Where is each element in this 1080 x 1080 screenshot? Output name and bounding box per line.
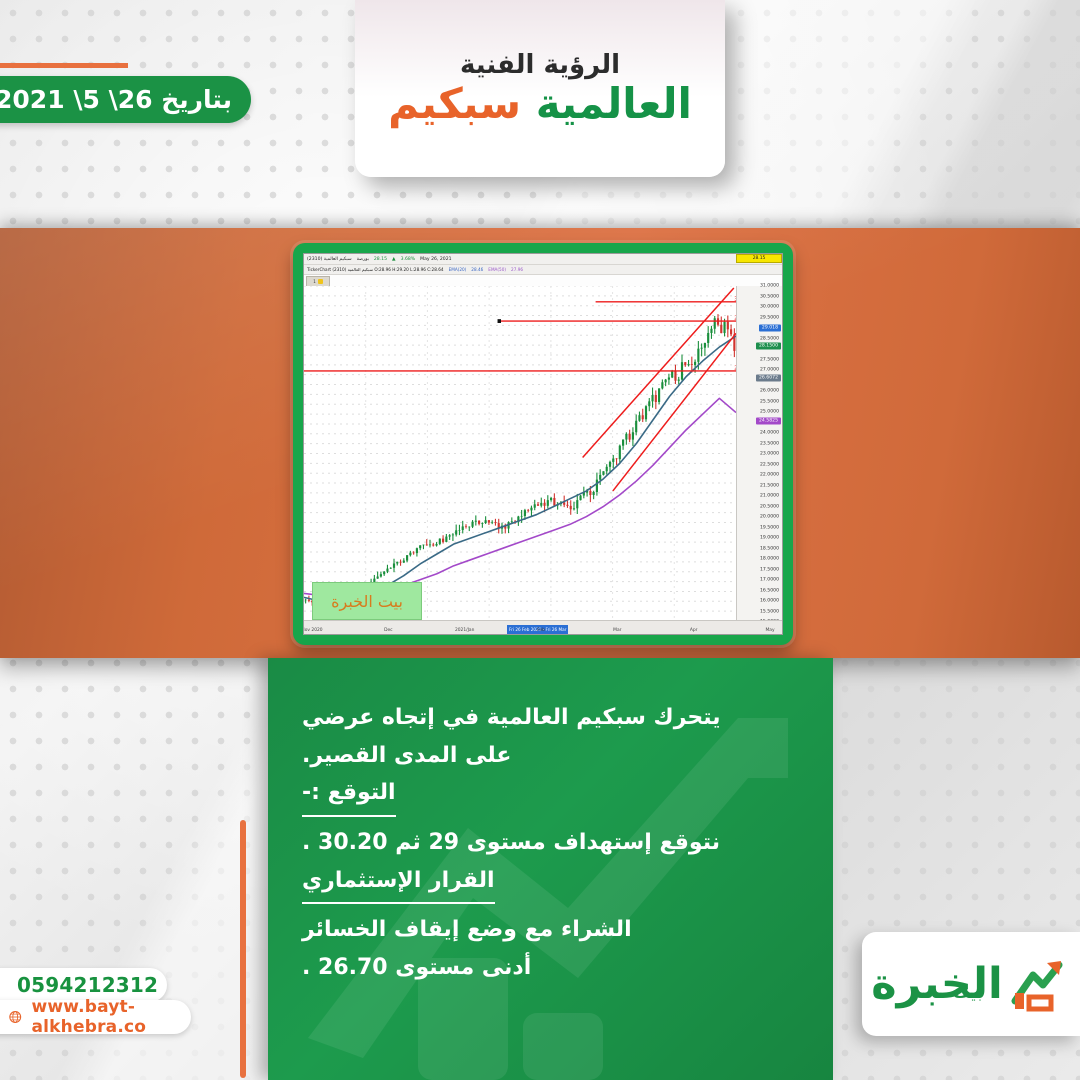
price-tick: 23.0000: [760, 452, 779, 457]
chart-last-price: 28.15: [374, 257, 387, 262]
price-tag-crosshair: 29.018: [759, 324, 781, 331]
chart-change-arrow-icon: ▲: [392, 257, 396, 262]
title-brand-orange: سبكيم: [388, 79, 521, 128]
title-brand-green: العالمية: [536, 79, 692, 128]
price-tick: 15.5000: [760, 609, 779, 614]
time-tick: 2021/Jan: [455, 628, 474, 633]
chart-window: سبكيم العالمية (2310) بورصة 28.15 ▲ 3.68…: [303, 253, 783, 635]
price-tick: 25.5000: [760, 399, 779, 404]
chart-symbol-row: سبكيم العالمية (2310) بورصة 28.15 ▲ 3.68…: [304, 254, 782, 265]
chart-ema20-value: 28.46: [471, 267, 483, 272]
chart-ohlc-row: TickerChart سبكيم العالمية (2310) O:28.9…: [304, 265, 782, 275]
chart-symbol: سبكيم العالمية (2310): [307, 257, 352, 262]
chart-price-axis[interactable]: 31.000030.500030.000029.500029.000028.50…: [736, 286, 782, 621]
chart-watermark-label: بيت الخبرة: [331, 592, 403, 611]
price-tag-last: 28.1500: [756, 342, 781, 349]
price-tick: 22.0000: [760, 473, 779, 478]
analysis-line-6: الشراء مع وضع إيقاف الخسائر: [302, 912, 632, 948]
title-card: الرؤية الفنية العالمية سبكيم: [355, 0, 725, 177]
chart-toolbar-label: 1: [313, 279, 316, 284]
price-tick: 28.5000: [760, 336, 779, 341]
chart-date: May 26, 2021: [420, 257, 451, 262]
price-tick: 21.5000: [760, 483, 779, 488]
time-tick: Dec: [384, 628, 393, 633]
price-tick: 16.5000: [760, 588, 779, 593]
contact-website[interactable]: www.bayt-alkhebra.co: [0, 1000, 191, 1034]
date-badge: بتاريخ 26\ 5\ 2021: [0, 76, 251, 123]
price-tick: 20.5000: [760, 504, 779, 509]
time-tick: May: [765, 628, 774, 633]
orange-accent-line: [240, 820, 246, 1078]
price-tick: 30.0000: [760, 305, 779, 310]
price-tick: 21.0000: [760, 494, 779, 499]
analysis-line-1: يتحرك سبكيم العالمية في إتجاه عرضي: [302, 700, 721, 736]
analysis-line-7: أدنى مستوى 26.70 .: [302, 950, 531, 986]
price-tick: 24.0000: [760, 431, 779, 436]
analysis-panel: يتحرك سبكيم العالمية في إتجاه عرضي على ا…: [268, 658, 833, 1080]
price-tick: 29.5000: [760, 315, 779, 320]
website-url: www.bayt-alkhebra.co: [31, 997, 175, 1037]
growth-arrow-icon: [1009, 953, 1071, 1015]
price-tick: 30.5000: [760, 294, 779, 299]
chart-plot-area[interactable]: 30.229.2226.69: [304, 286, 736, 621]
price-tick: 18.0000: [760, 557, 779, 562]
analysis-line-2: على المدى القصير.: [302, 738, 511, 774]
logo-word: الخبرة: [871, 963, 1003, 1006]
price-tick: 17.5000: [760, 567, 779, 572]
analysis-decision-heading: القرار الإستثماري: [302, 863, 495, 905]
analysis-forecast-heading: التوقع :-: [302, 775, 396, 817]
phone-number: 0594212312: [17, 973, 158, 997]
time-tick: Mar: [613, 628, 621, 633]
date-badge-label: بتاريخ 26\ 5\ 2021: [0, 85, 232, 114]
analysis-line-4: نتوقع إستهداف مستوى 29 ثم 30.20 .: [302, 825, 720, 861]
price-tick: 22.5000: [760, 462, 779, 467]
chart-ohlc: TickerChart سبكيم العالمية (2310) O:28.9…: [307, 267, 444, 272]
price-tick: 26.0000: [760, 389, 779, 394]
chart-svg: 30.229.2226.69: [304, 286, 736, 621]
price-tag-ema-slow: 24.5825: [756, 417, 781, 424]
price-tick: 20.0000: [760, 515, 779, 520]
chart-watermark: بيت الخبرة: [312, 582, 422, 620]
price-tick: 23.5000: [760, 441, 779, 446]
page-subtitle: الرؤية الفنية: [460, 50, 620, 80]
price-tick: 31.0000: [760, 284, 779, 289]
price-tick: 25.0000: [760, 410, 779, 415]
price-tick: 17.0000: [760, 578, 779, 583]
chart-current-price-tag: 28.15: [736, 254, 782, 263]
chart-ema50-value: 27.96: [511, 267, 523, 272]
chart-exchange: بورصة: [357, 257, 369, 262]
chart-ema20-label: EMA(20): [449, 267, 467, 272]
time-tick: Apr: [690, 628, 698, 633]
brand-logo[interactable]: بيت الخبرة: [862, 932, 1080, 1036]
time-tick: Feb: [537, 628, 545, 633]
price-tag-ema: 26.6072: [756, 375, 781, 382]
price-tick: 27.0000: [760, 368, 779, 373]
chart-change-pct: 3.68%: [401, 257, 416, 262]
chart-time-axis[interactable]: Fri 26 Feb 2021 - Fri 26 Mar Nov 2020Dec…: [304, 620, 782, 634]
toolbar-marker-icon: [318, 279, 323, 284]
price-tick: 27.5000: [760, 357, 779, 362]
price-tick: 19.0000: [760, 536, 779, 541]
price-tick: 16.0000: [760, 599, 779, 604]
chart-ema50-label: EMA(50): [488, 267, 506, 272]
chart-frame: سبكيم العالمية (2310) بورصة 28.15 ▲ 3.68…: [293, 243, 793, 645]
page-title: العالمية سبكيم: [388, 82, 692, 126]
logo-subword: بيت: [953, 983, 982, 1002]
date-rule: [0, 63, 128, 68]
analysis-text: يتحرك سبكيم العالمية في إتجاه عرضي على ا…: [268, 658, 833, 1080]
time-tick: Nov 2020: [303, 628, 323, 633]
globe-icon: [8, 1006, 22, 1028]
price-tick: 19.5000: [760, 525, 779, 530]
price-tick: 18.5000: [760, 546, 779, 551]
